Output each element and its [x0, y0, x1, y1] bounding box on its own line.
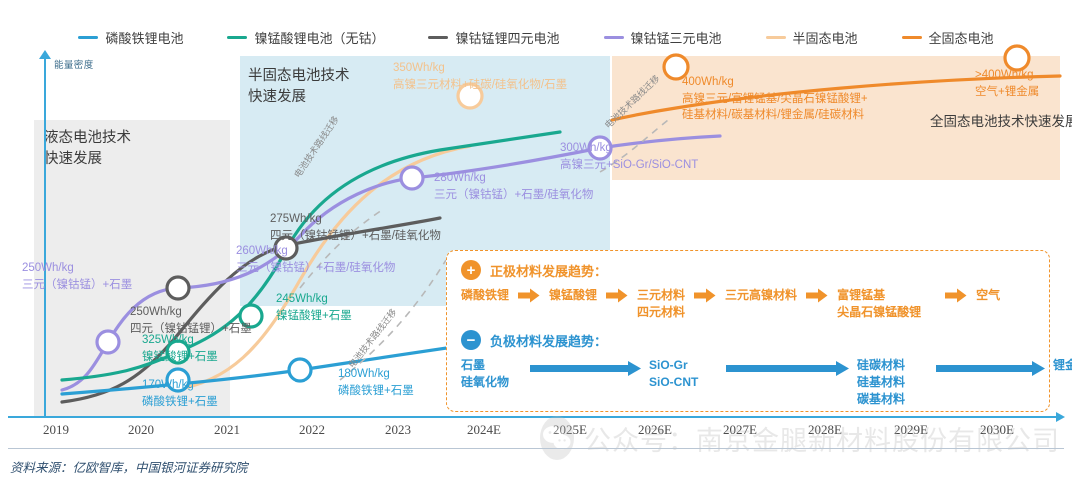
legend-label: 全固态电池: [929, 28, 994, 47]
point-label-ncm-2024: 300Wh/kg 高镍三元+SiO-Gr/SiO-CNT: [560, 140, 698, 173]
x-tick: 2025E: [537, 422, 603, 438]
plus-icon: +: [461, 260, 481, 280]
point-label-nmo-2020: 325Wh/kg 镍锰酸锂+石墨: [142, 332, 218, 365]
legend-item-ncm: 镍钴锰三元电池: [604, 28, 722, 47]
marker-ncm-2023: [401, 167, 423, 189]
arrow-right-icon: [945, 288, 967, 303]
chart-figure: 磷酸铁锂电池 镍锰酸锂电池（无钴） 镍钴锰锂四元电池 镍钴锰三元电池 半固态电池…: [0, 0, 1072, 484]
chain-node: 硅碳材料 硅基材料 碳基材料: [857, 357, 929, 408]
x-tick: 2022: [282, 422, 342, 438]
legend-item-semi-solid: 半固态电池: [766, 28, 858, 47]
minus-icon: −: [461, 330, 481, 350]
legend-item-all-solid: 全固态电池: [902, 28, 994, 47]
cathode-trend-title: 正极材料发展趋势：: [490, 261, 607, 280]
arrow-right-icon: [530, 361, 642, 376]
chain-node: 磷酸铁锂: [461, 287, 509, 304]
point-label-ncm-2020: 250Wh/kg 三元（镍钴锰）+石墨: [22, 260, 132, 293]
anode-trend-title: 负极材料发展趋势：: [490, 331, 607, 350]
legend-swatch-icon: [902, 36, 922, 39]
legend-label: 镍钴锰锂四元电池: [455, 28, 559, 47]
legend-swatch-icon: [604, 36, 624, 39]
point-label-solid-2030: >400Wh/kg 空气+锂金属: [975, 67, 1039, 100]
chain-node: 三元材料 四元材料: [637, 287, 685, 321]
cathode-trend-header: + 正极材料发展趋势：: [461, 260, 607, 280]
x-tick: 2027E: [707, 422, 773, 438]
chain-node: 石墨 硅氧化物: [461, 357, 523, 391]
arrow-right-icon: [806, 288, 828, 303]
x-tick: 2024E: [451, 422, 517, 438]
x-tick: 2021: [197, 422, 257, 438]
material-trend-panel: + 正极材料发展趋势： 磷酸铁锂 镍锰酸锂 三元材料 四元材料: [446, 250, 1050, 412]
point-label-nmo-2022: 245Wh/kg 镍锰酸锂+石墨: [276, 291, 352, 324]
chain-node: 空气: [976, 287, 1000, 304]
legend-swatch-icon: [428, 36, 448, 39]
x-tick: 2019: [26, 422, 86, 438]
point-label-quad-2022: 275Wh/kg 四元（镍钴锰锂）+石墨/硅氧化物: [270, 211, 441, 244]
arrow-right-icon: [606, 288, 628, 303]
legend-swatch-icon: [227, 36, 247, 39]
chart-legend: 磷酸铁锂电池 镍锰酸锂电池（无钴） 镍钴锰锂四元电池 镍钴锰三元电池 半固态电池…: [0, 24, 1072, 50]
chain-node: 三元高镍材料: [725, 287, 797, 304]
legend-swatch-icon: [766, 36, 786, 39]
chain-node: 富锂锰基 尖晶石镍锰酸锂: [837, 287, 921, 321]
point-label-lfp-2022: 180Wh/kg 磷酸铁锂+石墨: [338, 366, 414, 399]
x-tick: 2026E: [622, 422, 688, 438]
x-tick: 2020: [111, 422, 171, 438]
x-tick: 2030E: [964, 422, 1030, 438]
anode-trend-header: − 负极材料发展趋势：: [461, 330, 607, 350]
x-tick: 2028E: [792, 422, 858, 438]
legend-item-quaternary: 镍钴锰锂四元电池: [428, 28, 559, 47]
point-label-semi-2024: 350Wh/kg 高镍三元材料+硅碳/硅氧化物/石墨: [393, 60, 567, 93]
legend-swatch-icon: [78, 36, 98, 39]
plot-area: 液态电池技术 快速发展 半固态电池技术 快速发展 全固态电池技术快速发展 能量密…: [0, 50, 1072, 418]
chain-node: SiO-Gr SiO-CNT: [649, 357, 719, 391]
point-label-ncm-2023: 280Wh/kg 三元（镍钴锰）+石墨/硅氧化物: [434, 170, 593, 203]
legend-item-nmo: 镍锰酸锂电池（无钴）: [227, 28, 384, 47]
point-label-ncm-2021: 260Wh/kg 三元（镍钴锰）+石墨/硅氧化物: [236, 243, 395, 276]
point-label-lfp-2021: 170Wh/kg 磷酸铁锂+石墨: [142, 377, 218, 410]
chain-node: 锂金属: [1053, 357, 1072, 374]
footer-divider: [8, 448, 1064, 449]
arrow-right-icon: [518, 288, 540, 303]
x-tick-labels: 2019 2020 2021 2022 2023 2024E 2025E 202…: [0, 422, 1072, 442]
cathode-chain: 磷酸铁锂 镍锰酸锂 三元材料 四元材料: [461, 287, 1000, 321]
x-tick: 2029E: [878, 422, 944, 438]
arrow-right-icon: [936, 361, 1046, 376]
marker-ncm-2020: [97, 331, 119, 353]
legend-label: 镍锰酸锂电池（无钴）: [254, 28, 384, 47]
legend-label: 磷酸铁锂电池: [105, 28, 183, 47]
legend-item-lfp: 磷酸铁锂电池: [78, 28, 183, 47]
marker-lfp-2022: [289, 359, 311, 381]
x-tick: 2023: [368, 422, 428, 438]
source-note: 资料来源：亿欧智库，中国银河证券研究院: [10, 457, 248, 476]
point-label-solid-2026: 400Wh/kg 高镍三元/富锂锰基/尖晶石镍锰酸锂+ 硅基材料/碳基材料/锂金…: [682, 74, 868, 124]
marker-quad-2021: [167, 277, 189, 299]
chain-node: 镍锰酸锂: [549, 287, 597, 304]
arrow-right-icon: [694, 288, 716, 303]
legend-label: 半固态电池: [793, 28, 858, 47]
arrow-right-icon: [726, 361, 850, 376]
legend-label: 镍钴锰三元电池: [631, 28, 722, 47]
anode-chain: 石墨 硅氧化物 SiO-Gr SiO-CNT 硅碳材料 硅基材料 碳基材料: [461, 357, 1072, 408]
